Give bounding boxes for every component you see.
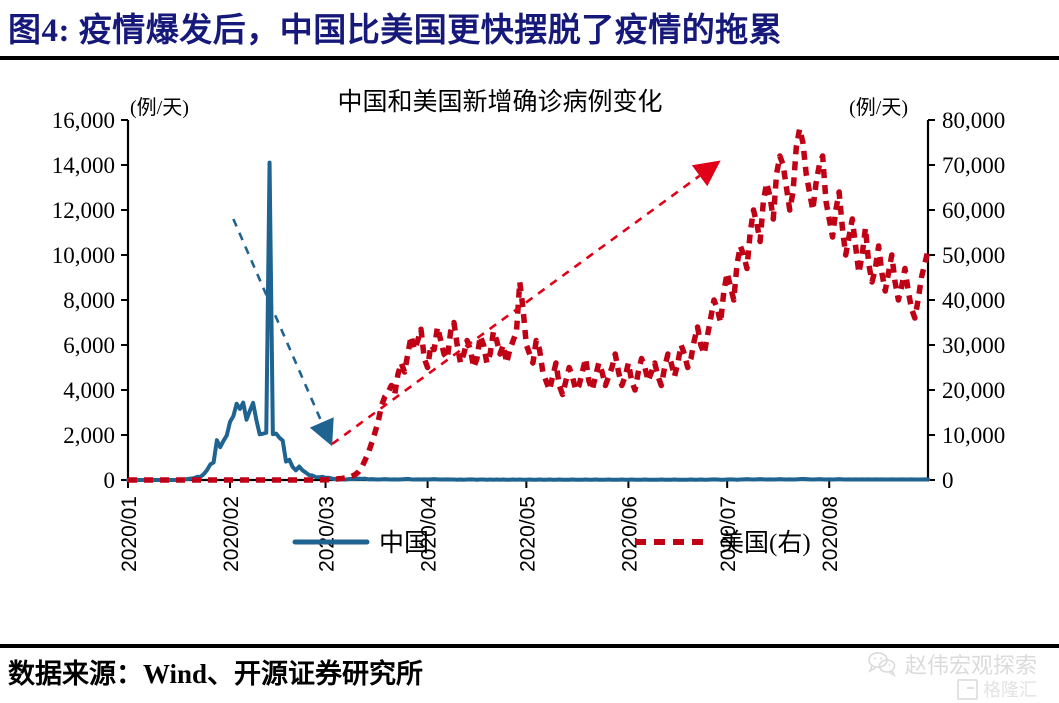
right-axis-unit-label: (例/天) (849, 96, 908, 119)
china-decline-arrow-head (310, 417, 334, 446)
us-rise-arrow-head (692, 161, 721, 187)
chart-annotations (233, 161, 720, 447)
left-axis-tick-label: 6,000 (63, 333, 115, 358)
figure-header: 图4: 疫情爆发后，中国比美国更快摆脱了疫情的拖累 (0, 0, 1059, 54)
chart-container: (例/天) (例/天) 中国和美国新增确诊病例变化 02,0004,0006,0… (0, 62, 1059, 640)
us-rise-arrow-line (332, 176, 699, 444)
x-axis-tick-label: 2020/02 (220, 496, 243, 572)
wechat-icon (867, 651, 897, 677)
covid-cases-line-chart: (例/天) (例/天) 中国和美国新增确诊病例变化 02,0004,0006,0… (0, 62, 1059, 640)
figure-title: 图4: 疫情爆发后，中国比美国更快摆脱了疫情的拖累 (0, 3, 782, 51)
china-decline-arrow-line (233, 219, 321, 422)
left-axis-tick-label: 12,000 (52, 198, 115, 223)
header-divider (0, 56, 1059, 60)
series-line-china (128, 163, 928, 480)
x-axis-tick-label: 2020/01 (118, 496, 141, 572)
left-axis-tick-label: 14,000 (52, 153, 115, 178)
chart-legend: 中国美国(右) (295, 529, 811, 557)
left-axis-tick-label: 4,000 (63, 378, 115, 403)
right-axis-tick-label: 20,000 (942, 378, 1005, 403)
series-line-us (128, 129, 928, 480)
left-axis-unit-label: (例/天) (130, 96, 189, 119)
right-axis-tick-label: 60,000 (942, 198, 1005, 223)
figure-root: 图4: 疫情爆发后，中国比美国更快摆脱了疫情的拖累 (例/天) (例/天) 中国… (0, 0, 1059, 703)
right-axis-tick-label: 0 (942, 468, 954, 493)
x-axis-tick-label: 2020/03 (316, 496, 339, 572)
right-axis-tick-label: 40,000 (942, 288, 1005, 313)
watermark-brand: 格隆汇 (957, 676, 1037, 702)
right-axis-tick-label: 50,000 (942, 243, 1005, 268)
left-axis-tick-label: 0 (104, 468, 116, 493)
right-axis-tick-label: 80,000 (942, 108, 1005, 133)
x-axis-ticks: 2020/012020/022020/032020/042020/052020/… (118, 480, 842, 572)
left-axis-tick-label: 16,000 (52, 108, 115, 133)
x-axis-tick-label: 2020/06 (618, 496, 641, 572)
left-axis-tick-label: 10,000 (52, 243, 115, 268)
source-note: 数据来源：Wind、开源证券研究所 (8, 652, 423, 691)
left-axis-ticks: 02,0004,0006,0008,00010,00012,00014,0001… (52, 108, 128, 493)
gelonghui-logo-icon (957, 679, 978, 700)
legend-label-us[interactable]: 美国(右) (719, 529, 811, 557)
watermark-brand-name: 格隆汇 (983, 676, 1037, 702)
left-axis-tick-label: 8,000 (63, 288, 115, 313)
right-axis-tick-label: 10,000 (942, 423, 1005, 448)
x-axis-tick-label: 2020/08 (819, 496, 842, 572)
legend-label-china[interactable]: 中国 (379, 529, 429, 557)
right-axis-ticks: 010,00020,00030,00040,00050,00060,00070,… (928, 108, 1005, 493)
left-axis-tick-label: 2,000 (63, 423, 115, 448)
right-axis-tick-label: 30,000 (942, 333, 1005, 358)
right-axis-tick-label: 70,000 (942, 153, 1005, 178)
x-axis-tick-label: 2020/05 (516, 496, 539, 572)
chart-title: 中国和美国新增确诊病例变化 (337, 88, 662, 116)
chart-series-group (128, 129, 928, 480)
